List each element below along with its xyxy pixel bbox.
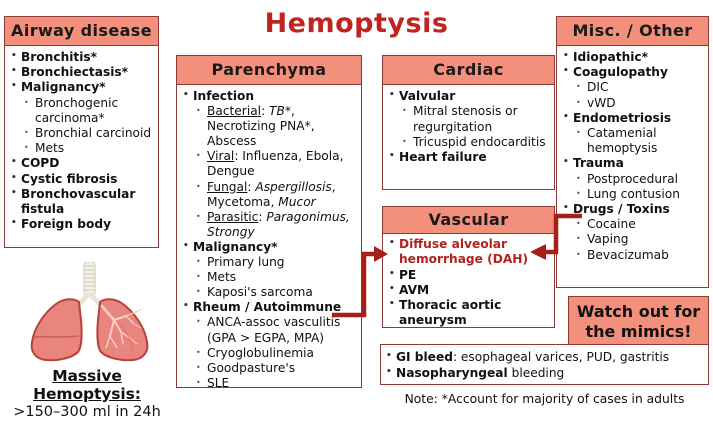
card-misc-header: Misc. / Other xyxy=(557,17,708,46)
list-item: Valvular Mitral stenosis or regurgitatio… xyxy=(386,89,550,150)
item-label: Parasitic xyxy=(207,210,258,224)
item-label: Goodpasture's xyxy=(207,361,295,375)
list-item: Endometriosis Catamenial hemoptysis xyxy=(560,111,704,157)
list-item: Foreign body xyxy=(8,217,154,232)
item-label: Foreign body xyxy=(21,217,111,231)
list-item: Infection Bacterial: TB*, Necrotizing PN… xyxy=(180,89,357,240)
card-airway-body: Bronchitis* Bronchiectasis* Malignancy* … xyxy=(5,46,158,235)
list-item: Lung contusion xyxy=(573,187,704,202)
card-airway-disease: Airway disease Bronchitis* Bronchiectasi… xyxy=(4,16,159,248)
list-item: Vaping xyxy=(573,232,704,247)
list-item: Thoracic aortic aneurysm xyxy=(386,298,550,328)
item-label: Trauma xyxy=(573,156,624,170)
item-label: PE xyxy=(399,268,416,282)
item-label: ANCA-assoc vasculitis (GPA > EGPA, MPA) xyxy=(207,315,340,344)
item-label: Bronchogenic carcinoma* xyxy=(35,96,118,125)
item-label: Bacterial xyxy=(207,104,261,118)
item-label: Coagulopathy xyxy=(573,65,668,79)
item-label: Malignancy* xyxy=(21,80,106,94)
list-item: Idiopathic* xyxy=(560,50,704,65)
list-item: Bronchial carcinoid xyxy=(21,126,154,141)
item-label: Vaping xyxy=(587,232,628,246)
item-label: SLE xyxy=(207,376,229,388)
arrow-drugs-to-vascular xyxy=(522,206,584,276)
list-item: vWD xyxy=(573,96,704,111)
item-emph: TB* xyxy=(269,104,291,118)
list-item: Fungal: Aspergillosis, Mycetoma, Mucor xyxy=(193,180,357,210)
card-cardiac-body: Valvular Mitral stenosis or regurgitatio… xyxy=(383,85,554,168)
item-label: Cryoglobulinemia xyxy=(207,346,314,360)
list-item: Catamenial hemoptysis xyxy=(573,126,704,156)
item-label: DIC xyxy=(587,80,609,94)
item-label: Viral xyxy=(207,149,234,163)
arrow-rheum-to-vascular xyxy=(330,236,390,322)
list-item: Goodpasture's xyxy=(193,361,357,376)
item-label: Rheum / Autoimmune xyxy=(193,300,341,314)
item-label: Valvular xyxy=(399,89,455,103)
item-label: Idiopathic* xyxy=(573,50,648,64)
massive-value: >150–300 ml in 24h xyxy=(2,404,172,420)
item-label: Heart failure xyxy=(399,150,487,164)
list-item: Bronchiectasis* xyxy=(8,65,154,80)
item-tail: : esophageal varices, PUD, gastritis xyxy=(453,350,669,364)
list-item: Nasopharyngeal bleeding xyxy=(383,365,704,381)
trachea-icon xyxy=(77,262,102,306)
item-label: vWD xyxy=(587,96,616,110)
list-item: SLE xyxy=(193,376,357,388)
item-label: Mitral stenosis or regurgitation xyxy=(413,104,518,133)
list-item: Bronchogenic carcinoma* xyxy=(21,96,154,126)
item-label: COPD xyxy=(21,156,59,170)
item-label: Drugs / Toxins xyxy=(573,202,670,216)
item-label: Mets xyxy=(207,270,236,284)
item-label: Primary lung xyxy=(207,255,285,269)
mimics-list-box: GI bleed: esophageal varices, PUD, gastr… xyxy=(380,344,709,385)
item-label: Bronchitis* xyxy=(21,50,97,64)
massive-hemoptysis-caption: Massive Hemoptysis: >150–300 ml in 24h xyxy=(2,367,172,420)
item-label: Fungal xyxy=(207,180,247,194)
list-item: Cystic fibrosis xyxy=(8,172,154,187)
card-parenchyma-header: Parenchyma xyxy=(177,56,361,85)
item-label: Endometriosis xyxy=(573,111,671,125)
list-item: Bronchovascular fistula xyxy=(8,187,154,217)
item-label: Catamenial hemoptysis xyxy=(587,126,657,155)
item-label: GI bleed xyxy=(396,350,453,364)
card-airway-header: Airway disease xyxy=(5,17,158,46)
list-item: Trauma Postprocedural Lung contusion xyxy=(560,156,704,202)
lungs-illustration xyxy=(22,262,157,370)
item-label: Cystic fibrosis xyxy=(21,172,117,186)
item-label: Bevacizumab xyxy=(587,248,669,262)
item-label: Tricuspid endocarditis xyxy=(413,135,546,149)
item-emph: Aspergillosis xyxy=(255,180,331,194)
item-label: Thoracic aortic aneurysm xyxy=(399,298,501,327)
list-item: Mitral stenosis or regurgitation xyxy=(399,104,550,135)
list-item: Cryoglobulinemia xyxy=(193,346,357,361)
list-item: Cocaine xyxy=(573,217,704,232)
massive-title: Massive Hemoptysis: xyxy=(2,367,172,403)
list-item: Bacterial: TB*, Necrotizing PNA*, Absces… xyxy=(193,104,357,149)
list-item: Malignancy* Bronchogenic carcinoma* Bron… xyxy=(8,80,154,156)
card-cardiac: Cardiac Valvular Mitral stenosis or regu… xyxy=(382,55,555,190)
item-label: Malignancy* xyxy=(193,240,278,254)
item-tail: bleeding xyxy=(508,366,565,380)
list-item: Viral: Influenza, Ebola, Dengue xyxy=(193,149,357,179)
list-item: GI bleed: esophageal varices, PUD, gastr… xyxy=(383,349,704,365)
lung-left-shape xyxy=(32,299,82,360)
item-emph: Mucor xyxy=(278,195,315,209)
list-item: Bronchitis* xyxy=(8,50,154,65)
item-label: Mets xyxy=(35,141,64,155)
list-item: Tricuspid endocarditis xyxy=(399,135,550,150)
watch-line-1: Watch out for xyxy=(569,302,708,322)
list-item: DIC xyxy=(573,80,704,95)
item-label: Bronchiectasis* xyxy=(21,65,128,79)
item-label: Postprocedural xyxy=(587,172,678,186)
list-item: Heart failure xyxy=(386,150,550,165)
item-label: Bronchial carcinoid xyxy=(35,126,151,140)
card-cardiac-header: Cardiac xyxy=(383,56,554,85)
item-label: AVM xyxy=(399,283,429,297)
infographic-root: Hemoptysis Airway disease Bronchitis* Br… xyxy=(0,0,713,439)
item-label: Diffuse alveolar hemorrhage (DAH) xyxy=(399,237,528,266)
card-parenchyma: Parenchyma Infection Bacterial: TB*, Nec… xyxy=(176,55,362,388)
list-item: COPD xyxy=(8,156,154,171)
list-item: Postprocedural xyxy=(573,172,704,187)
item-label: Cocaine xyxy=(587,217,636,231)
list-item: Bevacizumab xyxy=(573,248,704,263)
item-label: Kaposi's sarcoma xyxy=(207,285,313,299)
list-item: AVM xyxy=(386,283,550,298)
watch-out-banner: Watch out for the mimics! xyxy=(568,296,709,347)
list-item: Coagulopathy DIC vWD xyxy=(560,65,704,111)
item-label: Bronchovascular fistula xyxy=(21,187,135,216)
item-sep: : xyxy=(261,104,269,118)
item-label: Lung contusion xyxy=(587,187,680,201)
watch-line-2: the mimics! xyxy=(569,322,708,342)
footnote: Note: *Account for majority of cases in … xyxy=(380,392,709,406)
item-label: Infection xyxy=(193,89,254,103)
item-label: Nasopharyngeal xyxy=(396,366,508,380)
list-item: Mets xyxy=(21,141,154,156)
